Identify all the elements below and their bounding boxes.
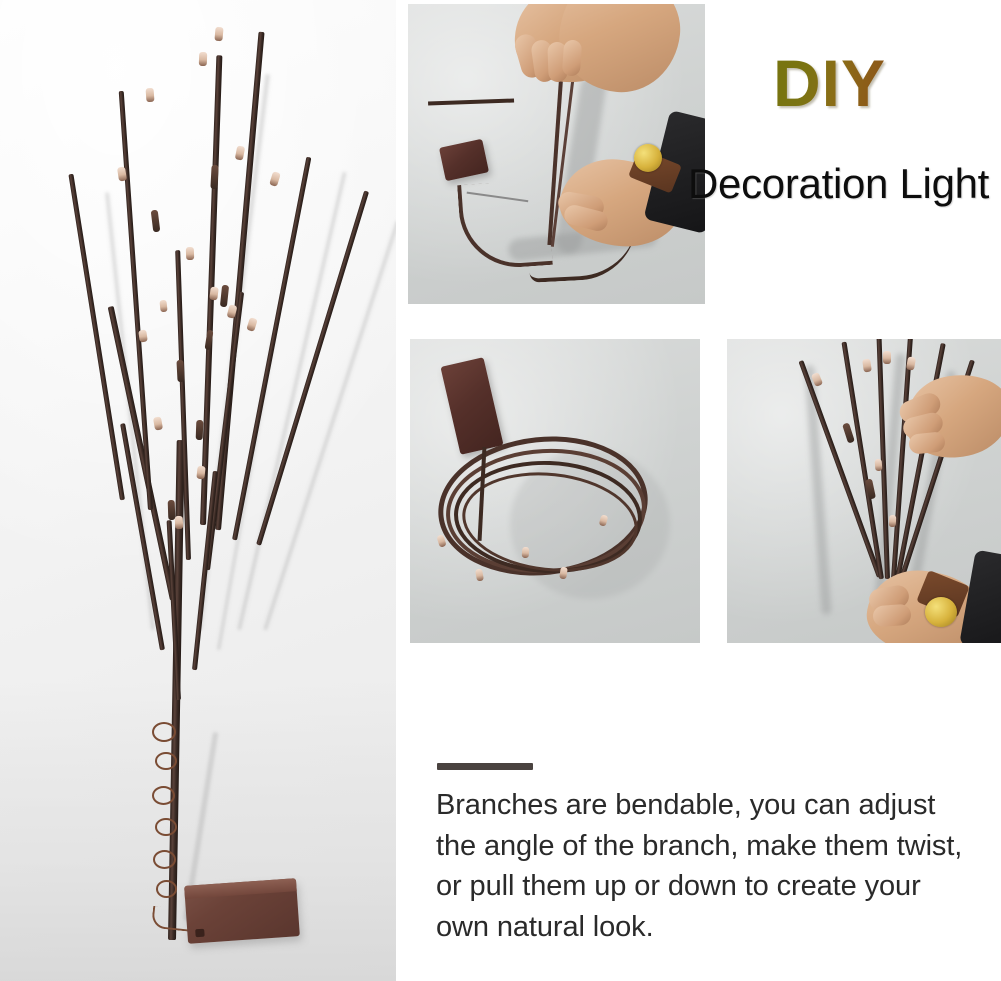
power-switch-icon: [195, 929, 205, 938]
finger: [872, 604, 911, 628]
photo-step-three: [727, 339, 1001, 643]
led-bud: [862, 359, 872, 373]
led-bud: [889, 515, 897, 527]
led-bud: [209, 287, 219, 301]
led-bud: [146, 88, 155, 103]
led-bud: [175, 516, 184, 529]
branch-node: [168, 500, 176, 520]
wire-twist: [155, 818, 177, 836]
branch-node: [196, 420, 204, 440]
led-bud: [522, 547, 530, 558]
led-bud: [883, 351, 891, 364]
photo-step-two: [410, 339, 700, 643]
wire-twist: [155, 752, 177, 770]
led-bud: [138, 330, 148, 343]
photo-step-one: [408, 4, 705, 304]
page-title-diy: DIY: [773, 50, 886, 116]
led-bud: [214, 27, 223, 42]
led-bud: [196, 466, 205, 480]
wire-twist: [152, 722, 176, 742]
wire-twist: [152, 786, 175, 805]
led-bud: [159, 300, 167, 313]
wristwatch-icon: [925, 597, 957, 627]
page-subtitle: Decoration Light: [688, 163, 989, 205]
led-bud: [186, 247, 194, 260]
wire-twist: [153, 850, 176, 869]
branch-node: [176, 360, 184, 382]
wire-twist: [156, 880, 177, 898]
wristwatch-icon: [634, 144, 662, 172]
led-bud: [875, 459, 883, 471]
led-bud: [199, 52, 207, 66]
battery-box-icon: [184, 878, 300, 944]
branch-node: [210, 165, 218, 189]
product-infographic: DIY Decoration Light Branches are bendab…: [0, 0, 1001, 981]
finger: [562, 39, 582, 76]
section-divider: [437, 763, 533, 770]
description-text: Branches are bendable, you can adjust th…: [436, 785, 981, 947]
hero-product-photo: [0, 0, 396, 981]
